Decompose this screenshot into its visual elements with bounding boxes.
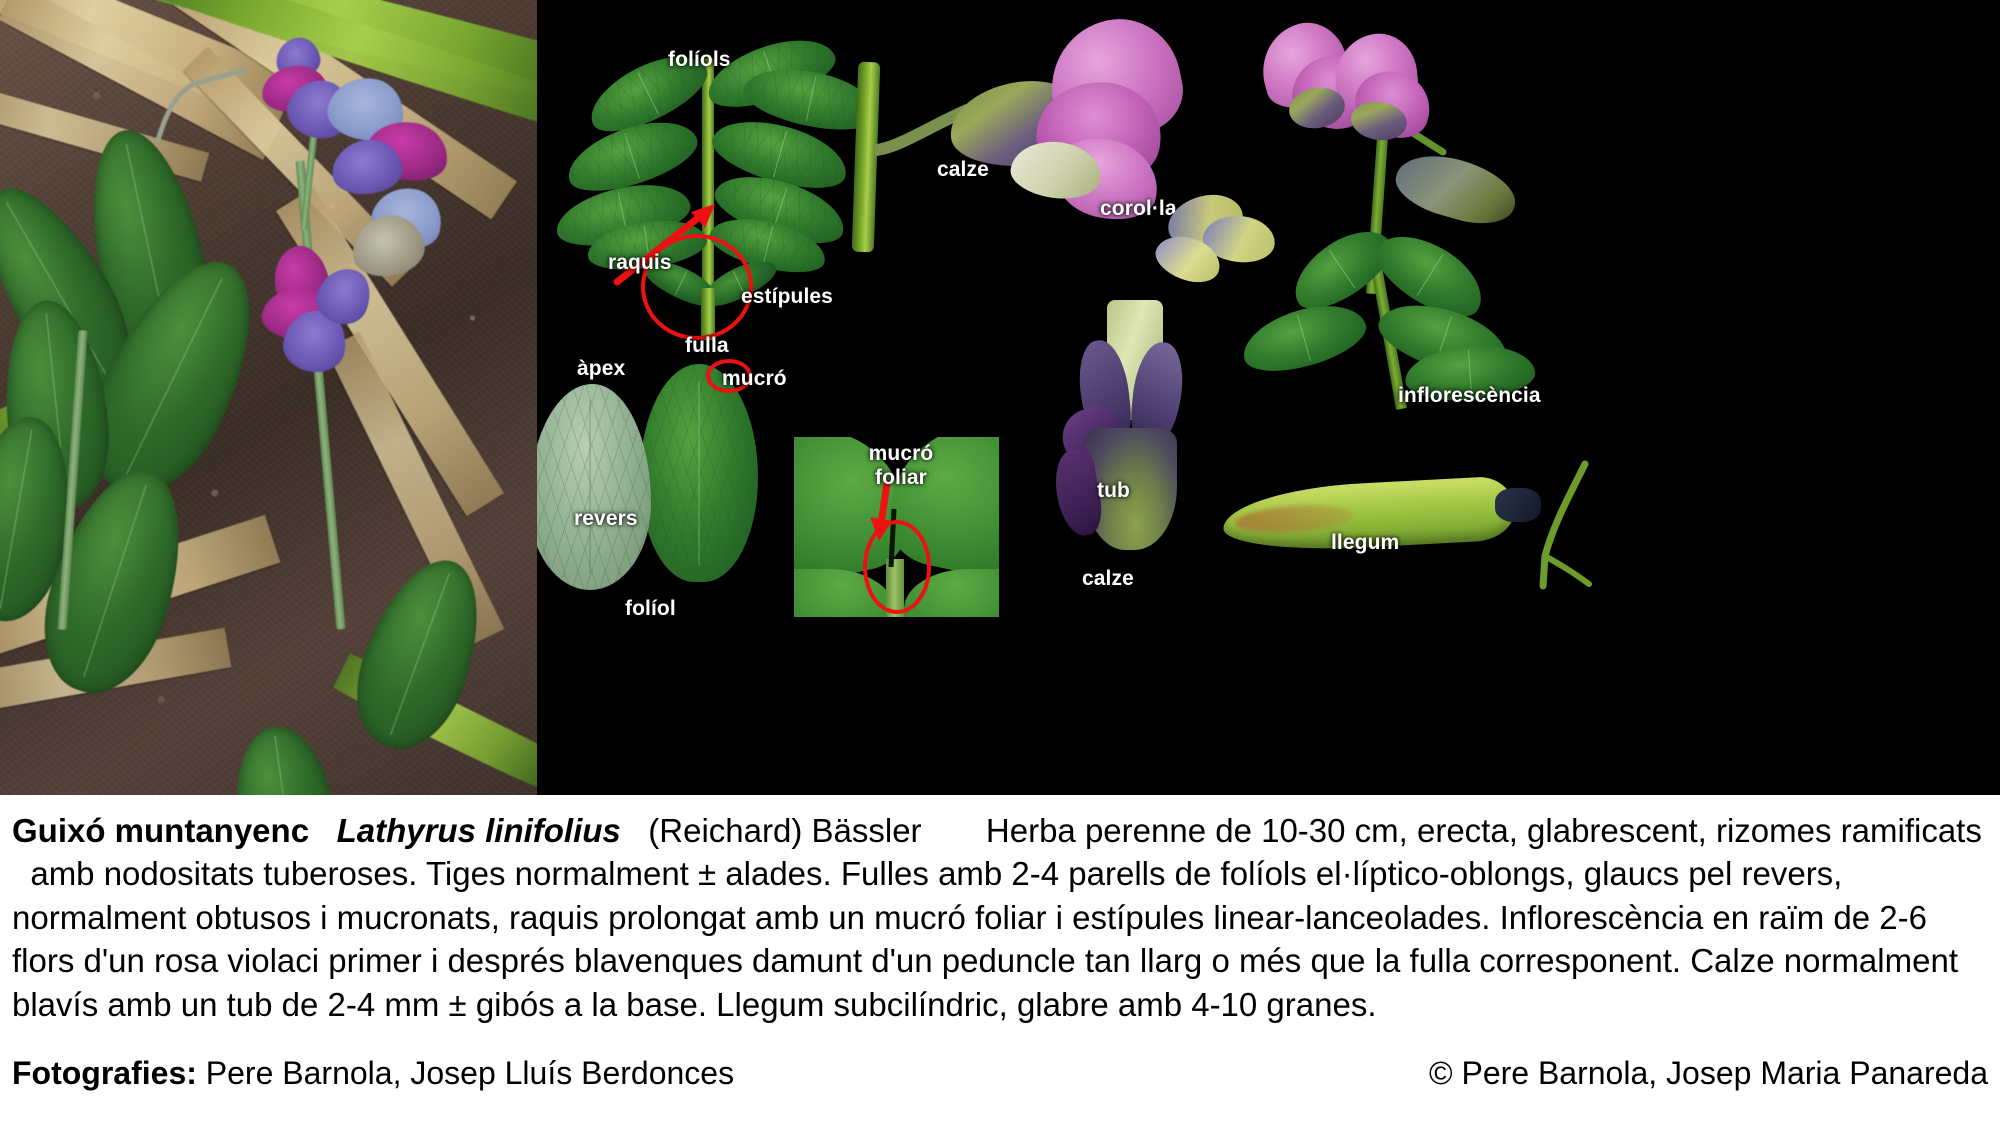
copyright-notice: © Pere Barnola, Josep Maria Panareda [1429, 1055, 1988, 1092]
description-body: amb nodositats tuberoses. Tiges normalme… [12, 855, 1958, 1022]
tendril [150, 30, 260, 150]
photos-label: Fotografies: [12, 1055, 197, 1091]
description-start: Herba perenne de 10-30 cm, erecta, glabr… [986, 812, 1982, 849]
plant-fact-sheet: folíols raquis estípules fulla mucró àpe… [0, 0, 2000, 1125]
label-inflorescencia: inflorescència [1398, 384, 1541, 408]
label-llegum: llegum [1331, 531, 1399, 555]
authority: (Reichard) Bässler [648, 812, 921, 849]
common-name: Guixó muntanyenc [12, 812, 309, 849]
label-mucro-foliar-line1: mucró [869, 442, 934, 465]
label-apex: àpex [577, 357, 625, 381]
label-mucro-foliar: mucró foliar [846, 442, 956, 489]
scientific-name: Lathyrus linifolius [337, 812, 621, 849]
caption-block: Guixó muntanyenc Lathyrus linifolius (Re… [0, 795, 2000, 1028]
image-plate: folíols raquis estípules fulla mucró àpe… [0, 0, 2000, 795]
label-fulla: fulla [685, 334, 729, 358]
label-foliols: folíols [668, 48, 731, 72]
credits-block: Fotografies: Pere Barnola, Josep Lluís B… [0, 1055, 2000, 1092]
habitat-photo [0, 0, 537, 795]
leaflet-underside [537, 384, 651, 590]
label-raquis: raquis [608, 251, 672, 275]
caption-text: Guixó muntanyenc Lathyrus linifolius (Re… [12, 809, 1988, 1026]
label-tub: tub [1097, 479, 1130, 503]
photo-credit: Fotografies: Pere Barnola, Josep Lluís B… [12, 1055, 734, 1092]
label-mucro: mucró [722, 367, 787, 391]
label-revers: revers [574, 507, 638, 531]
label-foliol: folíol [625, 597, 676, 621]
label-corolla: corol·la [1100, 197, 1177, 221]
inflorescence [1177, 10, 1657, 430]
leaflet-apex-detail [640, 364, 758, 582]
mucro-foliar-highlight-ring [863, 520, 931, 614]
label-estipules: estípules [741, 285, 833, 309]
diagram-panel: folíols raquis estípules fulla mucró àpe… [537, 0, 2000, 795]
photographers: Pere Barnola, Josep Lluís Berdonces [206, 1055, 734, 1091]
label-calze-tub: calze [1082, 567, 1134, 591]
legume-pedicel [1523, 460, 1593, 590]
label-calze-flower: calze [937, 158, 989, 182]
label-mucro-foliar-line2: foliar [875, 466, 927, 489]
